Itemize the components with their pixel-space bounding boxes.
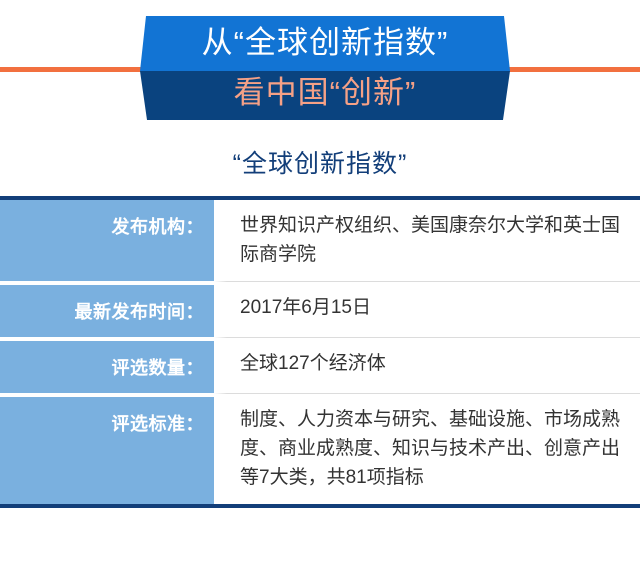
header: 从“全球创新指数” 看中国“创新”	[0, 0, 640, 130]
table-row-label: 评选标准：	[0, 393, 214, 504]
title-banner: 从“全球创新指数” 看中国“创新”	[140, 16, 510, 120]
table-row-value: 世界知识产权组织、美国康奈尔大学和英士国际商学院	[214, 200, 640, 281]
table-body: 发布机构： 世界知识产权组织、美国康奈尔大学和英士国际商学院 最新发布时间： 2…	[0, 200, 640, 504]
table-row-label: 最新发布时间：	[0, 281, 214, 337]
table-row: 最新发布时间： 2017年6月15日	[0, 281, 640, 337]
page-title: “全球创新指数”	[0, 144, 640, 180]
table-bottom-rule	[0, 504, 640, 508]
table-row-value: 制度、人力资本与研究、基础设施、市场成熟度、商业成熟度、知识与技术产出、创意产出…	[214, 393, 640, 504]
table-row-value: 2017年6月15日	[214, 281, 640, 337]
table-row: 发布机构： 世界知识产权组织、美国康奈尔大学和英士国际商学院	[0, 200, 640, 281]
table-row-label: 发布机构：	[0, 200, 214, 281]
table-row: 评选数量： 全球127个经济体	[0, 337, 640, 393]
table-row-value: 全球127个经济体	[214, 337, 640, 393]
info-table: 发布机构： 世界知识产权组织、美国康奈尔大学和英士国际商学院 最新发布时间： 2…	[0, 196, 640, 504]
table-row-label: 评选数量：	[0, 337, 214, 393]
infographic-page: { "header": { "banner_line1": "从“全球创新指数”…	[0, 0, 640, 562]
banner-title-line-1: 从“全球创新指数”	[140, 20, 510, 66]
table-row: 评选标准： 制度、人力资本与研究、基础设施、市场成熟度、商业成熟度、知识与技术产…	[0, 393, 640, 504]
banner-title-line-2: 看中国“创新”	[140, 70, 510, 116]
